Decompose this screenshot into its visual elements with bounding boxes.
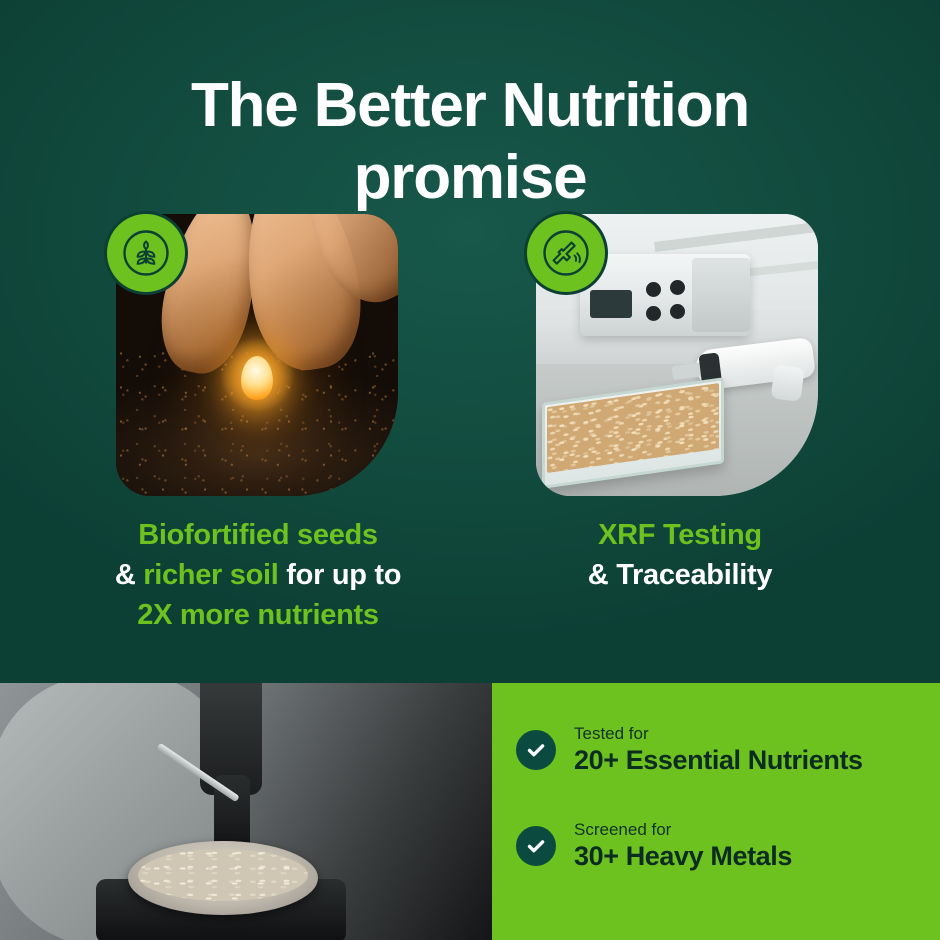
instrument-body — [692, 258, 750, 332]
infographic-canvas: The Better Nutrition promise — [0, 0, 940, 940]
top-panel: The Better Nutrition promise — [0, 0, 940, 683]
check-icon — [516, 730, 556, 770]
caption-part-white: & — [115, 559, 143, 591]
scanner-grip — [771, 364, 805, 401]
claim-label: Tested for — [574, 723, 863, 744]
page-title: The Better Nutrition promise — [0, 70, 940, 214]
petri-dish — [128, 841, 318, 915]
check-icon — [516, 826, 556, 866]
caption-part-green: XRF Testing — [598, 519, 762, 551]
caption-xrf-testing: XRF Testing & Traceability — [470, 515, 890, 595]
claim-text: Screened for 30+ Heavy Metals — [574, 819, 792, 873]
instrument-screen — [590, 290, 632, 318]
microscope-photo — [0, 683, 492, 940]
caption-part-green: 2X more nutrients — [137, 599, 378, 631]
bottom-band: Fe Zn Protein Tested for 20+ Essential N… — [0, 683, 940, 940]
wheat-plant-icon — [104, 211, 188, 295]
instrument-knob — [670, 304, 685, 319]
caption-part-green: Biofortified seeds — [138, 519, 378, 551]
glowing-seed — [241, 356, 273, 400]
caption-part-green: richer soil — [143, 559, 278, 591]
title-line-2: promise — [0, 142, 940, 214]
title-line-1: The Better Nutrition — [191, 71, 749, 140]
caption-biofortified-seeds: Biofortified seeds & richer soil for up … — [48, 515, 468, 635]
instrument-knob — [646, 282, 661, 297]
grain-sample — [138, 849, 308, 901]
instrument-knob — [646, 306, 661, 321]
claim-item-heavy-metals: Screened for 30+ Heavy Metals — [516, 819, 792, 873]
claim-value: 30+ Heavy Metals — [574, 840, 792, 873]
claim-text: Tested for 20+ Essential Nutrients — [574, 723, 863, 777]
claims-panel: Tested for 20+ Essential Nutrients Scree… — [492, 683, 940, 940]
xrf-scanner-icon — [524, 211, 608, 295]
caption-part-white: & Traceability — [588, 559, 772, 591]
claim-label: Screened for — [574, 819, 792, 840]
instrument-knob — [670, 280, 685, 295]
claim-value: 20+ Essential Nutrients — [574, 744, 863, 777]
caption-part-white: for up to — [279, 559, 402, 591]
claim-item-nutrients: Tested for 20+ Essential Nutrients — [516, 723, 863, 777]
